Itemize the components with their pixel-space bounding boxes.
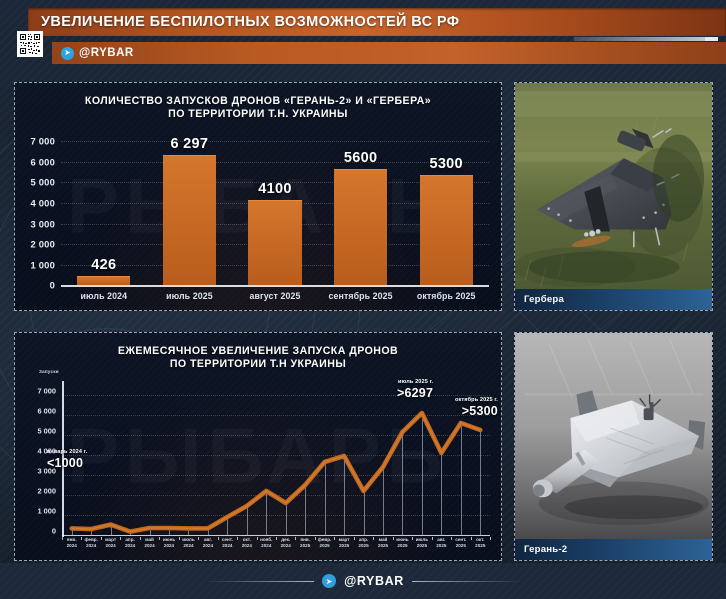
- telegram-icon: ➤: [61, 47, 74, 60]
- x-tick-label: май2025: [378, 537, 388, 548]
- y-tick-label: 0: [50, 280, 55, 291]
- x-tick-label: нояб.2024: [260, 537, 272, 548]
- x-tick-month: апр.: [359, 537, 368, 542]
- bar-chart-y-axis: 01 0002 0003 0004 0005 0006 0007 000: [15, 135, 59, 293]
- x-tick-year: 2025: [397, 543, 407, 548]
- bar-value-label: 426: [91, 257, 116, 273]
- bar: [334, 169, 387, 286]
- x-tick-label: янв.2025: [300, 537, 310, 548]
- x-tick-year: 2025: [417, 543, 427, 548]
- x-tick-month: июль: [416, 537, 428, 542]
- x-tick-year: 2025: [475, 543, 485, 548]
- qr-code-icon: [17, 31, 43, 57]
- x-tick-month: сент.: [222, 537, 233, 542]
- x-tick-label: апр.2024: [125, 537, 135, 548]
- x-tick-month: сент.: [455, 537, 466, 542]
- x-tick-month: июнь: [163, 537, 175, 542]
- x-tick-year: 2024: [281, 543, 291, 548]
- x-tick-month: июнь: [396, 537, 408, 542]
- y-tick-label: 6 000: [31, 156, 55, 167]
- bar: [248, 200, 301, 286]
- y-tick-label: 2 000: [31, 239, 55, 250]
- x-tick-year: 2024: [144, 543, 154, 548]
- photo-caption-bar: Гербера: [515, 289, 712, 310]
- x-tick-label: июнь2025: [396, 537, 408, 548]
- bar-value-label: 4100: [258, 181, 291, 197]
- bar-chart-plot: 4266 297410056005300: [61, 141, 489, 287]
- x-tick-label: июль2025: [416, 537, 428, 548]
- x-tick-month: окт.: [476, 537, 484, 542]
- y-tick-label: 0: [52, 527, 56, 536]
- infographic-page: УВЕЛИЧЕНИЕ БЕСПИЛОТНЫХ ВОЗМОЖНОСТЕЙ ВС Р…: [0, 0, 726, 599]
- bar-chart-panel: РЫБАРЬ КОЛИЧЕСТВО ЗАПУСКОВ ДРОНОВ «ГЕРАН…: [14, 82, 502, 311]
- x-tick-label: июль 2025: [166, 291, 213, 301]
- x-tick-year: 2024: [222, 543, 232, 548]
- x-tick-label: июль2024: [182, 537, 194, 548]
- x-tick-month: май: [145, 537, 154, 542]
- x-tick-month: апр.: [125, 537, 134, 542]
- x-tick-label: окт.2024: [242, 537, 252, 548]
- line-chart-plot: [62, 385, 490, 535]
- x-tick-month: март: [105, 537, 116, 542]
- annotation-caption: январь 2024 г.: [47, 449, 87, 455]
- x-tick-year: 2025: [378, 543, 388, 548]
- y-tick-label: 3 000: [31, 218, 55, 229]
- header-accent-strip: [574, 37, 718, 41]
- line-series: [62, 385, 490, 535]
- x-tick-label: дек.2024: [281, 537, 291, 548]
- photo-caption-bar: Герань-2: [515, 539, 712, 560]
- header-accent-strip-end: [705, 37, 718, 41]
- y-tick-label: 1 000: [38, 507, 57, 516]
- x-tick-year: 2024: [86, 543, 96, 548]
- footer-divider-left: [204, 581, 314, 582]
- bar-value-label: 6 297: [170, 136, 208, 152]
- bar-value-label: 5300: [429, 156, 462, 172]
- bar: [77, 276, 130, 286]
- line-chart-title-line1: ЕЖЕМЕСЯЧНОЕ УВЕЛИЧЕНИЕ ЗАПУСКА ДРОНОВ: [15, 345, 501, 358]
- bar-chart-title-line1: КОЛИЧЕСТВО ЗАПУСКОВ ДРОНОВ «ГЕРАНЬ-2» И …: [15, 95, 501, 108]
- x-tick-year: 2024: [183, 543, 193, 548]
- x-tick-year: 2024: [261, 543, 271, 548]
- photo-card-geran2: Герань-2: [514, 332, 713, 561]
- y-tick-label: 1 000: [31, 259, 55, 270]
- x-tick-month: янв.: [300, 537, 310, 542]
- annotation: октябрь 2025 г.>5300: [455, 397, 498, 418]
- footer-divider-right: [412, 581, 522, 582]
- x-tick-label: март2024: [105, 537, 116, 548]
- line-chart-title-line2: ПО ТЕРРИТОРИИ Т.Н УКРАИНЫ: [15, 358, 501, 371]
- x-tick-month: авг.: [204, 537, 212, 542]
- x-tick-label: окт.2025: [475, 537, 485, 548]
- x-tick-month: май: [379, 537, 388, 542]
- bar-chart-title-line2: ПО ТЕРРИТОРИИ Т.Н. УКРАИНЫ: [15, 108, 501, 121]
- y-tick-label: 5 000: [38, 427, 57, 436]
- photo-caption: Герань-2: [515, 544, 567, 555]
- x-tick: [490, 537, 491, 540]
- x-tick-month: авг.: [437, 537, 445, 542]
- bar: [420, 175, 473, 285]
- x-tick-year: 2025: [300, 543, 310, 548]
- x-tick-label: апр.2025: [358, 537, 368, 548]
- bar-chart-baseline: [61, 285, 489, 287]
- geran-2-drone-photo: [515, 333, 712, 560]
- photo-caption: Гербера: [515, 294, 564, 305]
- x-tick-year: 2025: [320, 543, 330, 548]
- x-tick-label: июль 2024: [80, 291, 127, 301]
- x-tick-year: 2025: [339, 543, 349, 548]
- annotation-value: >6297: [397, 386, 433, 400]
- bar-chart-title: КОЛИЧЕСТВО ЗАПУСКОВ ДРОНОВ «ГЕРАНЬ-2» И …: [15, 95, 501, 121]
- x-tick-label: сент.2025: [455, 537, 466, 548]
- line-chart-x-axis: янв.2024февр.2024март2024апр.2024май2024…: [62, 537, 490, 559]
- y-tick-label: 7 000: [31, 136, 55, 147]
- x-tick-label: сент.2024: [222, 537, 233, 548]
- x-tick-label: авг.2025: [436, 537, 446, 548]
- gridline: [61, 141, 489, 142]
- x-tick-year: 2024: [67, 543, 77, 548]
- x-tick-year: 2024: [164, 543, 174, 548]
- footer-handle: @RYBAR: [344, 574, 404, 588]
- annotation-caption: июль 2025 г.: [397, 379, 433, 385]
- channel-bar[interactable]: ➤ @RYBAR: [52, 42, 726, 64]
- x-tick-month: янв.: [67, 537, 77, 542]
- x-tick-month: февр.: [318, 537, 331, 542]
- x-tick-label: янв.2024: [67, 537, 77, 548]
- annotation-value: >5300: [455, 404, 498, 418]
- x-tick-month: дек.: [281, 537, 290, 542]
- footer: ➤ @RYBAR: [0, 563, 726, 599]
- line-chart-title: ЕЖЕМЕСЯЧНОЕ УВЕЛИЧЕНИЕ ЗАПУСКА ДРОНОВ ПО…: [15, 345, 501, 371]
- x-tick-year: 2025: [436, 543, 446, 548]
- y-tick-label: 2 000: [38, 487, 57, 496]
- telegram-icon: ➤: [322, 574, 336, 588]
- bar-value-label: 5600: [344, 150, 377, 166]
- gerbera-drone-photo: [515, 83, 712, 310]
- page-title: УВЕЛИЧЕНИЕ БЕСПИЛОТНЫХ ВОЗМОЖНОСТЕЙ ВС Р…: [28, 14, 460, 30]
- x-tick-label: октябрь 2025: [417, 291, 476, 301]
- line-chart-panel: РЫБАРЬ ЕЖЕМЕСЯЧНОЕ УВЕЛИЧЕНИЕ ЗАПУСКА ДР…: [14, 332, 502, 561]
- x-tick-label: авг.2024: [203, 537, 213, 548]
- x-tick-month: июль: [182, 537, 194, 542]
- x-tick-month: февр.: [84, 537, 97, 542]
- x-tick-label: сентябрь 2025: [329, 291, 393, 301]
- annotation: январь 2024 г.<1000: [47, 449, 87, 470]
- x-tick-label: июнь2024: [163, 537, 175, 548]
- annotation-value: <1000: [47, 456, 87, 470]
- y-tick-label: 5 000: [31, 177, 55, 188]
- footer-branding[interactable]: ➤ @RYBAR: [0, 574, 726, 588]
- x-tick-year: 2024: [106, 543, 116, 548]
- line-chart-y-axis-label: Запуски: [39, 369, 59, 374]
- x-tick-month: нояб.: [260, 537, 272, 542]
- bar-chart-x-axis: июль 2024июль 2025август 2025сентябрь 20…: [61, 291, 489, 309]
- annotation-caption: октябрь 2025 г.: [455, 397, 498, 403]
- y-tick-label: 6 000: [38, 407, 57, 416]
- x-tick-month: март: [339, 537, 350, 542]
- x-tick-label: август 2025: [250, 291, 301, 301]
- photo-card-gerbera: Гербера: [514, 82, 713, 311]
- header: УВЕЛИЧЕНИЕ БЕСПИЛОТНЫХ ВОЗМОЖНОСТЕЙ ВС Р…: [0, 0, 726, 70]
- x-tick-year: 2024: [125, 543, 135, 548]
- page-title-bar: УВЕЛИЧЕНИЕ БЕСПИЛОТНЫХ ВОЗМОЖНОСТЕЙ ВС Р…: [28, 8, 726, 36]
- x-tick-year: 2025: [358, 543, 368, 548]
- x-tick-year: 2024: [242, 543, 252, 548]
- gridline: [61, 162, 489, 163]
- x-tick-label: февр.2024: [84, 537, 97, 548]
- x-tick-year: 2024: [203, 543, 213, 548]
- x-tick-label: февр.2025: [318, 537, 331, 548]
- channel-handle: @RYBAR: [79, 47, 134, 59]
- annotation: июль 2025 г.>6297: [397, 379, 433, 400]
- x-tick-label: март2025: [339, 537, 350, 548]
- x-tick-label: май2024: [144, 537, 154, 548]
- y-tick-label: 7 000: [38, 387, 57, 396]
- y-tick-label: 4 000: [31, 197, 55, 208]
- bar: [163, 155, 216, 286]
- x-tick-month: окт.: [243, 537, 251, 542]
- x-tick-year: 2025: [456, 543, 466, 548]
